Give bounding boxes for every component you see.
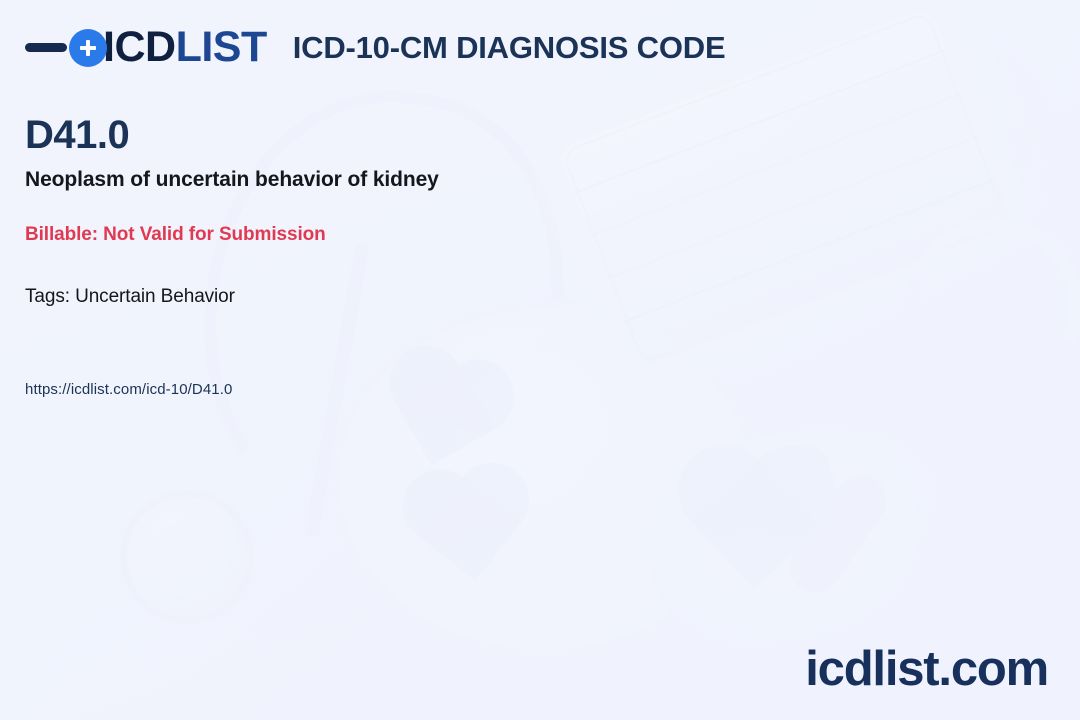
billable-status: Billable: Not Valid for Submission xyxy=(25,224,326,246)
header: ICDLIST ICD-10-CM DIAGNOSIS CODE xyxy=(25,26,725,69)
page-title: ICD-10-CM DIAGNOSIS CODE xyxy=(293,30,726,66)
icd-code-card: ICDLIST ICD-10-CM DIAGNOSIS CODE D41.0 N… xyxy=(0,0,1080,720)
diagnosis-code: D41.0 xyxy=(25,113,129,157)
tags-line: Tags: Uncertain Behavior xyxy=(25,286,235,308)
plus-circle-icon xyxy=(69,29,107,67)
brand-wordmark: icdlist.com xyxy=(805,645,1048,694)
card-content: ICDLIST ICD-10-CM DIAGNOSIS CODE D41.0 N… xyxy=(0,0,1080,720)
dash-icon xyxy=(25,43,67,52)
logo-word-list: LIST xyxy=(176,23,267,71)
icdlist-logo[interactable]: ICDLIST xyxy=(25,26,267,69)
diagnosis-description: Neoplasm of uncertain behavior of kidney xyxy=(25,168,439,192)
logo-word-icd: ICD xyxy=(103,23,176,71)
source-url[interactable]: https://icdlist.com/icd-10/D41.0 xyxy=(25,381,232,398)
logo-wordmark: ICDLIST xyxy=(103,26,267,69)
